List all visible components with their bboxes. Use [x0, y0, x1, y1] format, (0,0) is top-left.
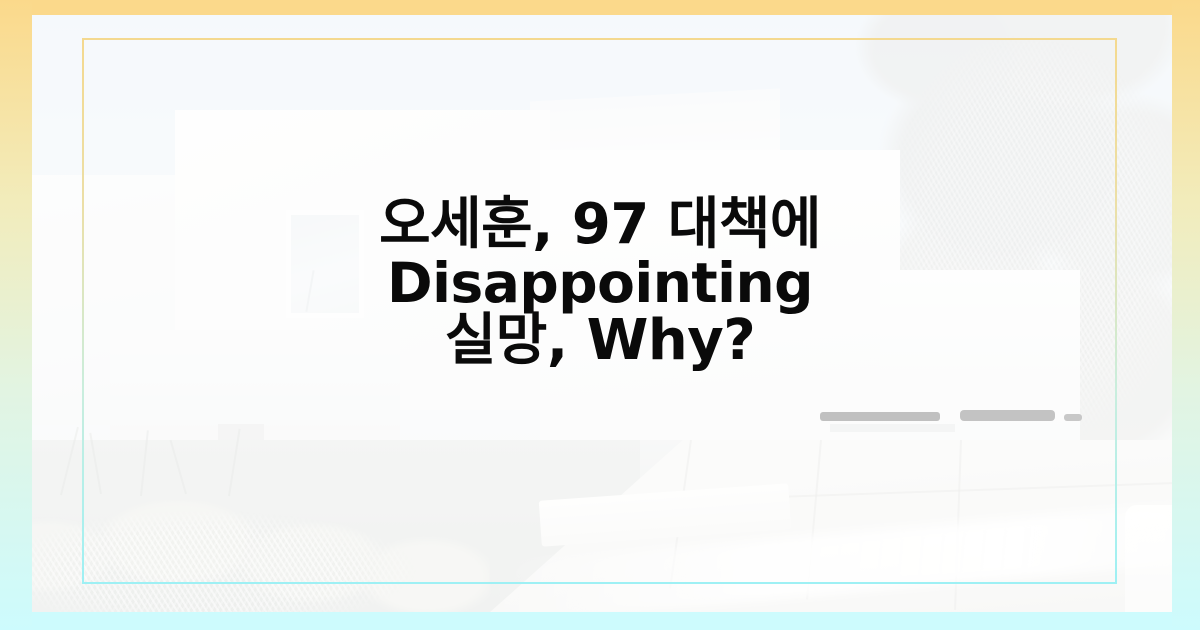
- headline-line-1: 오세훈, 97 대책에: [90, 196, 1110, 254]
- dark-roof-trim: [1064, 414, 1082, 421]
- thumbnail-canvas: 오세훈, 97 대책에 Disappointing 실망, Why?: [0, 0, 1200, 630]
- headline-line-3: 실망, Why?: [90, 312, 1110, 370]
- headline-text: 오세훈, 97 대책에 Disappointing 실망, Why?: [0, 196, 1200, 370]
- shrub-hedge-texture: [0, 500, 490, 630]
- roof-shadow: [830, 424, 955, 432]
- headline-line-2: Disappointing: [90, 254, 1110, 312]
- dark-roof-trim: [820, 412, 940, 421]
- dark-roof-trim: [960, 410, 1055, 421]
